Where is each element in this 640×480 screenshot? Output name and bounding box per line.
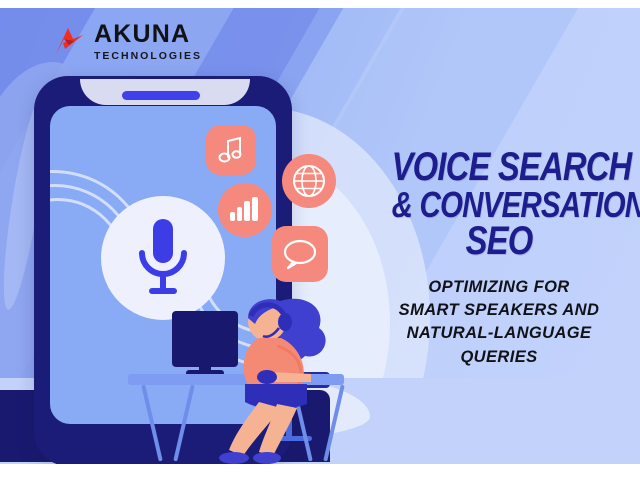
phone-speaker-notch bbox=[122, 91, 200, 100]
brand-name: AKUNA bbox=[94, 22, 202, 47]
headline-line-1: VOICE SEARCH bbox=[392, 148, 607, 187]
subtitle-block: OPTIMIZING FOR SMART SPEAKERS AND NATURA… bbox=[368, 276, 630, 370]
globe-icon bbox=[282, 154, 336, 208]
subtitle-line-4: QUERIES bbox=[368, 346, 630, 369]
brand-logo: AKUNA TECHNOLOGIES bbox=[52, 22, 202, 62]
music-note-icon bbox=[206, 125, 256, 175]
headline-line-3: SEO bbox=[392, 222, 607, 261]
microphone-icon bbox=[132, 217, 194, 299]
headline-block: VOICE SEARCH & CONVERSATIONAL SEO OPTIMI… bbox=[368, 148, 630, 369]
akuna-a-mark-icon bbox=[52, 25, 86, 59]
promo-banner: AKUNA TECHNOLOGIES bbox=[0, 8, 640, 464]
woman-with-headset-illustration bbox=[215, 294, 335, 464]
subtitle-line-2: SMART SPEAKERS AND bbox=[368, 299, 630, 322]
brand-tagline: TECHNOLOGIES bbox=[94, 51, 202, 62]
headline-line-2: & CONVERSATIONAL bbox=[392, 187, 607, 222]
subtitle-line-1: OPTIMIZING FOR bbox=[368, 276, 630, 299]
subtitle-line-3: NATURAL-LANGUAGE bbox=[368, 322, 630, 345]
brand-wordmark: AKUNA TECHNOLOGIES bbox=[94, 22, 202, 62]
speech-bubble-icon bbox=[272, 226, 328, 282]
bar-chart-icon bbox=[218, 183, 272, 237]
